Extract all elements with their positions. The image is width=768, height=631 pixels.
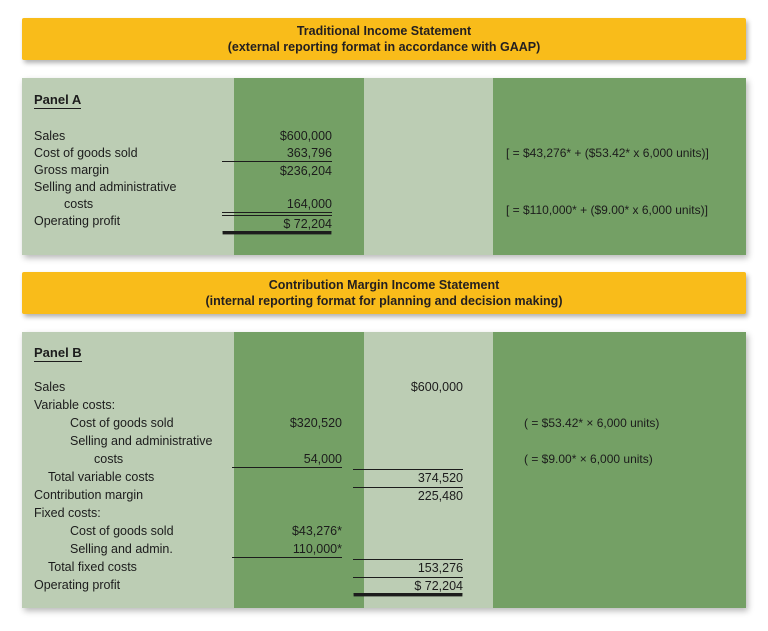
banner-title-line2: (external reporting format in accordance… xyxy=(228,39,541,55)
panel-a-amount-0: $600,000 xyxy=(222,129,332,143)
panel-b-row-label-2: Cost of goods sold xyxy=(70,416,174,430)
panel-b-row-label-6: Contribution margin xyxy=(34,488,143,502)
panel-b-note-0: ( = $53.42* × 6,000 units) xyxy=(524,416,659,430)
panel-b-amount1-9: 110,000* xyxy=(232,542,342,558)
panel-a-row-label-5: Operating profit xyxy=(34,214,120,228)
panel-a-title: Panel A xyxy=(34,92,81,109)
panel-b-amount2-6: 225,480 xyxy=(353,487,463,503)
panel-b-row-label-11: Operating profit xyxy=(34,578,120,592)
panel-b-title: Panel B xyxy=(34,345,82,362)
panel-b-row-label-7: Fixed costs: xyxy=(34,506,101,520)
panel-a-amount-1: 363,796 xyxy=(222,146,332,162)
panel-b-row-label-1: Variable costs: xyxy=(34,398,115,412)
panel-b-amount2-0: $600,000 xyxy=(353,380,463,394)
panel-b-amount1-4: 54,000 xyxy=(232,452,342,468)
panel-a: Panel A Sales Cost of goods sold Gross m… xyxy=(22,78,746,255)
banner-b-title-line2: (internal reporting format for planning … xyxy=(206,293,563,309)
panel-b-content: Panel B Sales Variable costs: Cost of go… xyxy=(22,332,746,608)
panel-b-row-label-0: Sales xyxy=(34,380,65,394)
panel-a-row-label-1: Cost of goods sold xyxy=(34,146,138,160)
figure-root: Traditional Income Statement (external r… xyxy=(0,0,768,631)
panel-b-amount2-5: 374,520 xyxy=(353,469,463,485)
panel-a-note-1: [ = $110,000* + ($9.00* x 6,000 units)] xyxy=(506,203,708,217)
panel-a-row-label-0: Sales xyxy=(34,129,65,143)
panel-b-row-label-4: costs xyxy=(94,452,123,466)
panel-b-amount2-10: 153,276 xyxy=(353,559,463,575)
panel-a-amount-5: $ 72,204 xyxy=(222,215,332,231)
banner-b-title-line1: Contribution Margin Income Statement xyxy=(269,277,500,293)
panel-b-amount1-8: $43,276* xyxy=(232,524,342,538)
panel-b-note-1: ( = $9.00* × 6,000 units) xyxy=(524,452,653,466)
panel-a-note-0: [ = $43,276* + ($53.42* x 6,000 units)] xyxy=(506,146,709,160)
banner-title-line1: Traditional Income Statement xyxy=(297,23,471,39)
panel-b-row-label-8: Cost of goods sold xyxy=(70,524,174,538)
panel-b-row-label-10: Total fixed costs xyxy=(48,560,137,574)
panel-a-amount-4: 164,000 xyxy=(222,197,332,213)
panel-b-amount2-11: $ 72,204 xyxy=(353,577,463,593)
panel-a-row-label-3: Selling and administrative xyxy=(34,180,176,194)
panel-b-amount1-2: $320,520 xyxy=(232,416,342,430)
panel-b: Panel B Sales Variable costs: Cost of go… xyxy=(22,332,746,608)
panel-a-row-label-2: Gross margin xyxy=(34,163,109,177)
banner-traditional-income-statement: Traditional Income Statement (external r… xyxy=(22,18,746,60)
panel-b-row-label-5: Total variable costs xyxy=(48,470,154,484)
panel-b-row-label-9: Selling and admin. xyxy=(70,542,173,556)
banner-contribution-margin-income-statement: Contribution Margin Income Statement (in… xyxy=(22,272,746,314)
panel-b-row-label-3: Selling and administrative xyxy=(70,434,212,448)
panel-a-content: Panel A Sales Cost of goods sold Gross m… xyxy=(22,78,746,255)
panel-a-amount-2: $236,204 xyxy=(222,164,332,178)
panel-a-row-label-4: costs xyxy=(64,197,93,211)
